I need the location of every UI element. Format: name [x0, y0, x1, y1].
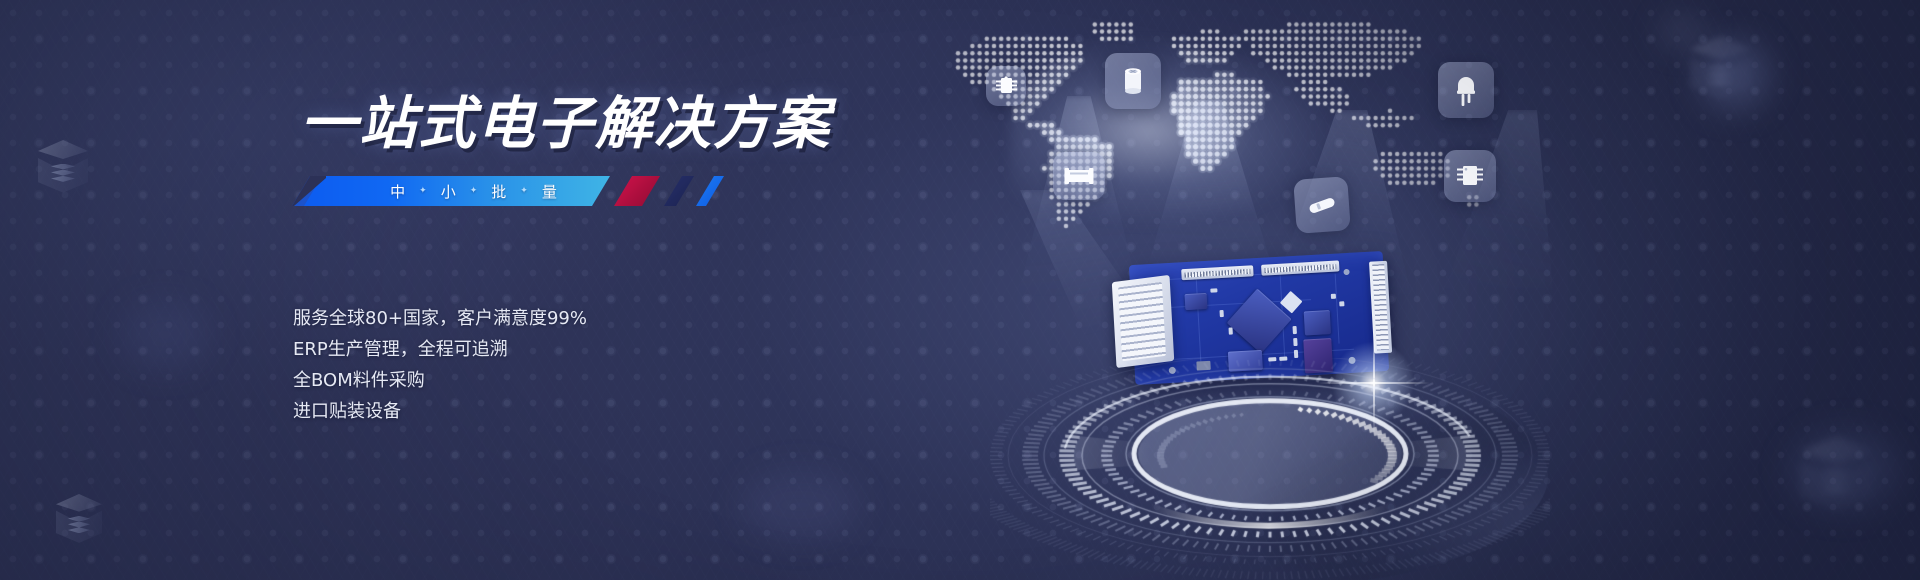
feature-item: 进口贴装设备 — [293, 396, 713, 427]
ribbon-word: 中 — [377, 181, 419, 202]
ribbon-separator-icon: ✦ — [520, 186, 529, 196]
ribbon-separator-icon: ✦ — [419, 186, 428, 196]
feature-item: ERP生产管理，全程可追溯 — [293, 334, 713, 365]
ribbon-blue-accent — [696, 176, 724, 206]
hero-banner: 一站式电子解决方案 中 ✦ 小 ✦ 批 ✦ 量 服务全球80+国家，客户满意度9… — [0, 0, 1920, 580]
ribbon-separator-icon: ✦ — [470, 186, 479, 196]
feature-item: 服务全球80+国家，客户满意度99% — [293, 303, 713, 334]
ribbon-word: 小 — [428, 181, 470, 202]
banner-content: 一站式电子解决方案 中 ✦ 小 ✦ 批 ✦ 量 服务全球80+国家，客户满意度9… — [0, 0, 860, 580]
ribbon-navy-accent — [664, 176, 694, 206]
feature-list: 服务全球80+国家，客户满意度99% ERP生产管理，全程可追溯 全BOM料件采… — [293, 303, 713, 427]
banner-title: 一站式电子解决方案 — [300, 96, 831, 153]
ribbon-tagline: 中 ✦ 小 ✦ 批 ✦ 量 — [292, 176, 640, 206]
ribbon-text: 中 ✦ 小 ✦ 批 ✦ 量 — [292, 176, 610, 206]
feature-item: 全BOM料件采购 — [293, 365, 713, 396]
ribbon-word: 批 — [478, 181, 520, 202]
ribbon-word: 量 — [529, 181, 571, 202]
ribbon-red-accent — [614, 176, 660, 206]
